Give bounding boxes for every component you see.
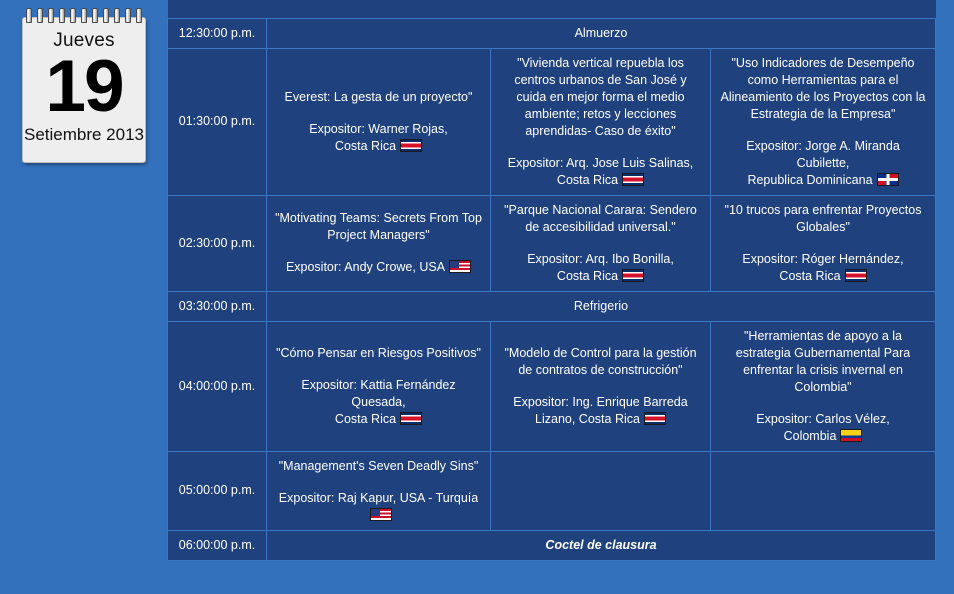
schedule-time-cell: 02:30:00 p.m. [168,195,267,291]
spiral-ring-icon [26,8,32,23]
talk-country: Costa Rica [275,411,482,428]
talk-title: "Cómo Pensar en Riesgos Positivos" [275,345,482,362]
schedule-talk-cell: "Parque Nacional Carara: Sendero de acce… [491,195,711,291]
talk-title: "Uso Indicadores de Desempeño como Herra… [719,55,927,123]
spiral-ring-icon [81,8,87,23]
spiral-ring-icon [70,8,76,23]
schedule-talk-row: 02:30:00 p.m."Motivating Teams: Secrets … [168,195,936,291]
schedule-talk-cell: "Vivienda vertical repuebla los centros … [491,48,711,195]
spacer-cell [711,0,936,18]
schedule-table-body: 12:30:00 p.m.Almuerzo01:30:00 p.m.Everes… [168,0,936,560]
spiral-ring-icon [48,8,54,23]
talk-speaker: Expositor: Róger Hernández, [719,251,927,268]
calendar-spiral-binding-icon [26,8,142,24]
schedule-talk-cell: "Motivating Teams: Secrets From Top Proj… [267,195,491,291]
calendar-page: Jueves 19 Setiembre 2013 [22,17,146,163]
schedule-talk-row: 04:00:00 p.m."Cómo Pensar en Riesgos Pos… [168,321,936,451]
schedule-talk-cell: "Cómo Pensar en Riesgos Positivos"Exposi… [267,321,491,451]
talk-speaker: Expositor: Raj Kapur, USA - Turquía [275,490,482,524]
talk-country: Costa Rica [499,172,702,189]
schedule-time-cell: 05:00:00 p.m. [168,451,267,530]
talk-title: "Parque Nacional Carara: Sendero de acce… [499,202,702,236]
talk-spacer [275,475,482,490]
spiral-ring-icon [103,8,109,23]
flag-quadrant [889,174,897,178]
break-label: Refrigerio [267,291,936,321]
flag-costa-rica-icon [622,269,644,282]
flag-colombia-icon [840,429,862,442]
schedule-time-cell: 06:00:00 p.m. [168,530,267,560]
talk-speaker: Expositor: Carlos Vélez, [719,411,927,428]
talk-title: "10 trucos para enfrentar Proyectos Glob… [719,202,927,236]
talk-spacer [719,236,927,251]
schedule-time-cell: 03:30:00 p.m. [168,291,267,321]
flag-costa-rica-icon [622,173,644,186]
schedule-talk-row: 05:00:00 p.m."Management's Seven Deadly … [168,451,936,530]
spiral-ring-icon [59,8,65,23]
talk-country: Republica Dominicana [719,172,927,189]
talk-speaker: Expositor: Kattia Fernández Quesada, [275,377,482,411]
talk-spacer [275,106,482,121]
flag-dominican-republic-icon [877,173,899,186]
schedule-talk-cell [491,451,711,530]
talk-country: Costa Rica [275,138,482,155]
talk-title: "Herramientas de apoyo a la estrategia G… [719,328,927,396]
talk-country: Costa Rica [499,268,702,285]
talk-speaker: Expositor: Andy Crowe, USA [275,259,482,276]
talk-spacer [499,379,702,394]
break-row: 12:30:00 p.m.Almuerzo [168,18,936,48]
flag-quadrant [889,180,897,184]
spacer-cell [168,0,267,18]
flag-costa-rica-icon [400,412,422,425]
talk-spacer [499,236,702,251]
calendar-date-badge: Jueves 19 Setiembre 2013 [22,8,146,168]
talk-spacer [719,123,927,138]
talk-title: "Management's Seven Deadly Sins" [275,458,482,475]
flag-costa-rica-icon [845,269,867,282]
schedule-time-cell: 01:30:00 p.m. [168,48,267,195]
talk-title: "Motivating Teams: Secrets From Top Proj… [275,210,482,244]
schedule-time-cell: 04:00:00 p.m. [168,321,267,451]
talk-title: Everest: La gesta de un proyecto" [275,89,482,106]
spiral-ring-icon [114,8,120,23]
talk-country: Costa Rica [719,268,927,285]
spacer-cell [491,0,711,18]
spiral-ring-icon [92,8,98,23]
closing-row: 06:00:00 p.m.Coctel de clausura [168,530,936,560]
flag-quadrant [878,174,886,178]
flag-usa-icon [370,508,392,521]
talk-spacer [719,396,927,411]
break-row: 03:30:00 p.m.Refrigerio [168,291,936,321]
spacer-cell [267,0,491,18]
talk-speaker: Expositor: Jorge A. Miranda Cubilette, [719,138,927,172]
schedule-talk-cell: Everest: La gesta de un proyecto"Exposit… [267,48,491,195]
flag-quadrant [878,180,886,184]
talk-spacer [275,362,482,377]
spiral-ring-icon [37,8,43,23]
schedule-talk-cell: "Herramientas de apoyo a la estrategia G… [711,321,936,451]
schedule-talk-cell: "10 trucos para enfrentar Proyectos Glob… [711,195,936,291]
schedule-talk-cell: "Management's Seven Deadly Sins"Exposito… [267,451,491,530]
schedule-talk-cell [711,451,936,530]
talk-speaker: Expositor: Ing. Enrique Barreda Lizano, … [499,394,702,428]
spiral-ring-icon [125,8,131,23]
schedule-talk-cell: "Uso Indicadores de Desempeño como Herra… [711,48,936,195]
talk-spacer [499,140,702,155]
talk-title: "Vivienda vertical repuebla los centros … [499,55,702,140]
spiral-ring-icon [136,8,142,23]
calendar-day-number: 19 [45,51,122,123]
schedule-table: 12:30:00 p.m.Almuerzo01:30:00 p.m.Everes… [167,0,936,561]
schedule-talk-row: 01:30:00 p.m.Everest: La gesta de un pro… [168,48,936,195]
talk-title: "Modelo de Control para la gestión de co… [499,345,702,379]
flag-costa-rica-icon [644,412,666,425]
break-label: Almuerzo [267,18,936,48]
talk-speaker: Expositor: Arq. Ibo Bonilla, [499,251,702,268]
flag-costa-rica-icon [400,139,422,152]
closing-label: Coctel de clausura [267,530,936,560]
schedule-time-cell: 12:30:00 p.m. [168,18,267,48]
talk-speaker: Expositor: Arq. Jose Luis Salinas, [499,155,702,172]
talk-speaker: Expositor: Warner Rojas, [275,121,482,138]
calendar-month-year: Setiembre 2013 [24,126,144,143]
talk-country: Colombia [719,428,927,445]
flag-usa-icon [449,260,471,273]
talk-spacer [275,244,482,259]
schedule-talk-cell: "Modelo de Control para la gestión de co… [491,321,711,451]
table-top-spacer [168,0,936,18]
